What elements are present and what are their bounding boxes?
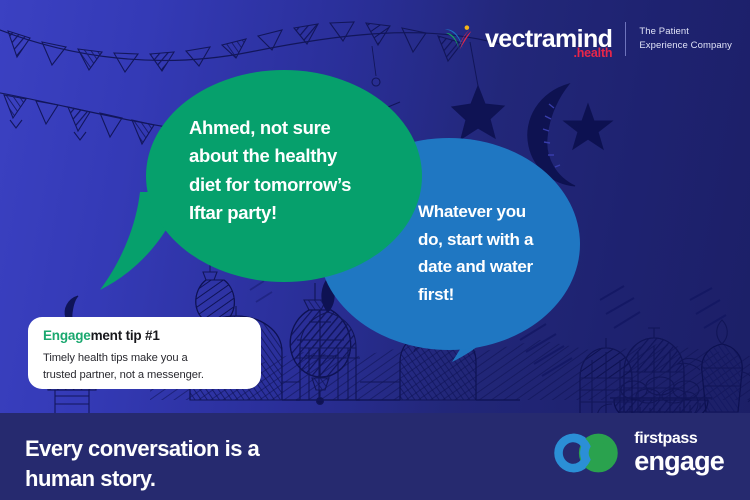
patient-bubble-text: Ahmed, not sure about the healthy diet f…	[189, 114, 394, 227]
care-team-bubble-text: Whatever you do, start with a date and w…	[418, 198, 578, 308]
engagement-tip-title-rest: ment tip #1	[91, 328, 160, 343]
bunting-flags-icon	[0, 22, 500, 72]
poster-canvas: vectramind .health The Patient Experienc…	[0, 0, 750, 500]
engagement-tip-title: Engagement tip #1	[43, 328, 247, 344]
footer-headline: Every conversation is a human story.	[25, 434, 259, 493]
engagement-tip-body: Timely health tips make you a trusted pa…	[43, 350, 247, 384]
engage-word: engage	[634, 448, 724, 475]
footer-bar: Every conversation is a human story. fir…	[0, 413, 750, 500]
teapot-icon	[678, 320, 750, 412]
vectramind-logo: vectramind .health The Patient Experienc…	[444, 22, 732, 56]
brand-suffix: .health	[573, 47, 612, 60]
firstpass-engage-logo: firstpass engage	[550, 430, 724, 476]
vectramind-swoosh-icon	[444, 25, 474, 53]
brand-divider	[625, 22, 626, 56]
firstpass-engage-wordmark: firstpass engage	[634, 431, 724, 475]
firstpass-word: firstpass	[634, 431, 724, 447]
teapot-icon	[597, 328, 698, 424]
brand-tagline: The Patient Experience Company	[639, 25, 732, 54]
engagement-tip-card: Engagement tip #1 Timely health tips mak…	[28, 317, 261, 389]
engagement-tip-title-highlight: Engage	[43, 328, 91, 343]
firstpass-infinity-icon	[550, 430, 622, 476]
star-icon	[452, 42, 504, 139]
patient-bubble: Ahmed, not sure about the healthy diet f…	[146, 70, 422, 282]
hanging-lantern-icon	[580, 338, 632, 414]
vectramind-wordmark: vectramind .health	[485, 27, 612, 52]
